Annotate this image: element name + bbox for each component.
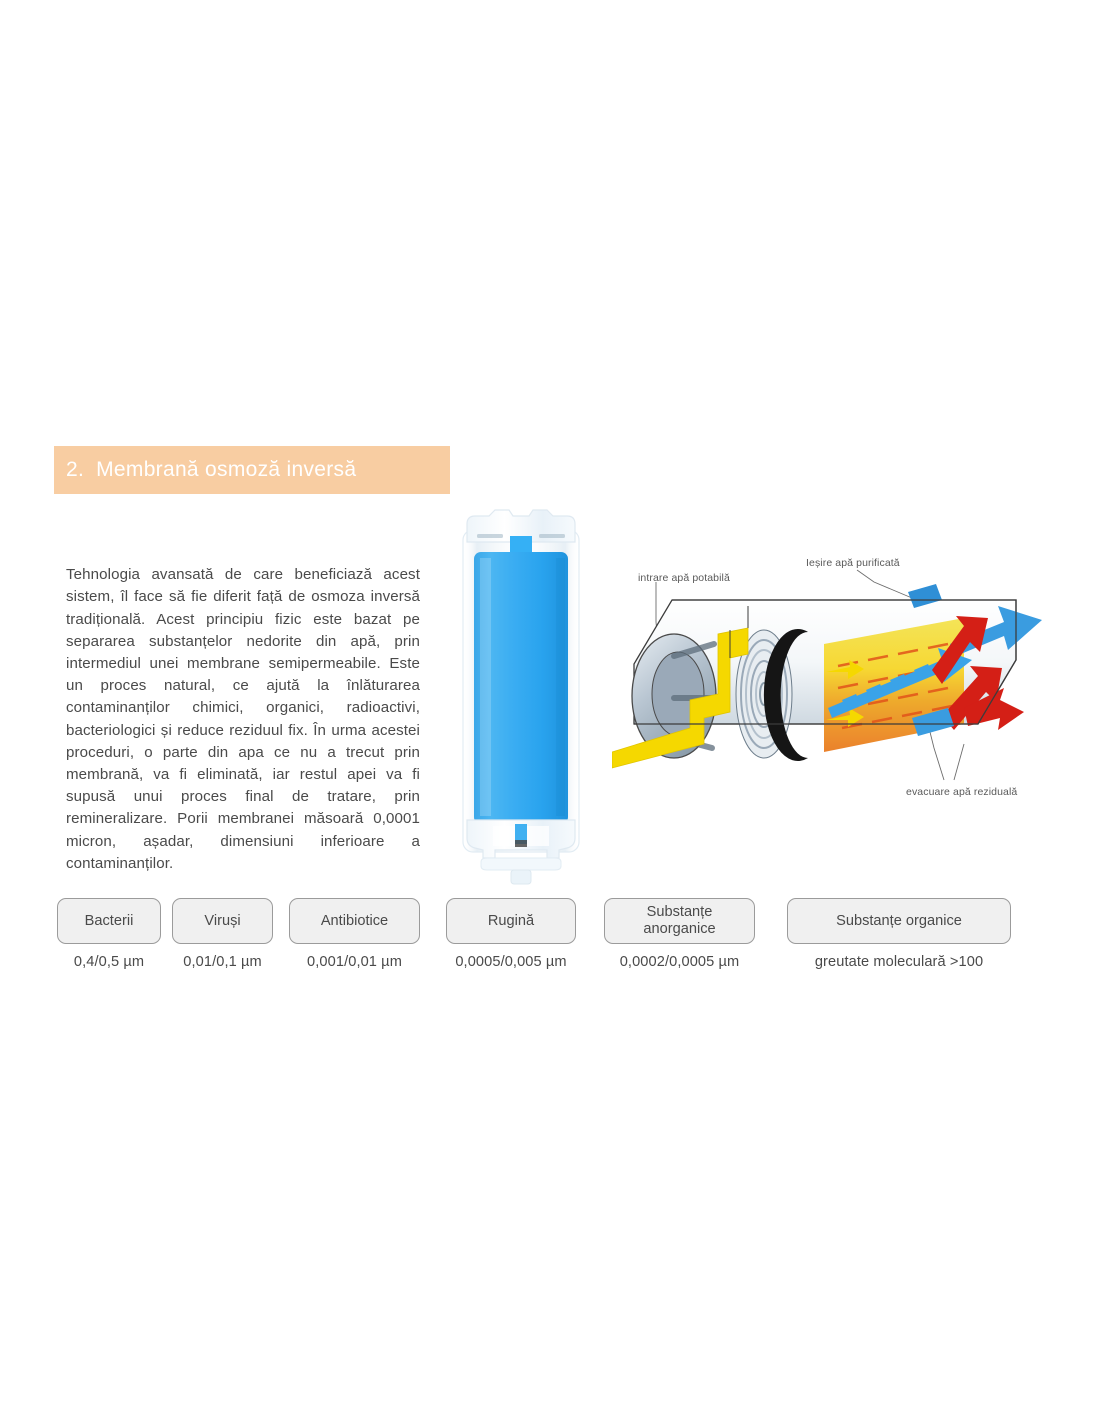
ro-membrane-diagram: intrare apă potabilă Ieșire apă purifica… — [612, 548, 1048, 816]
contaminant-cell: Antibiotice 0,001/0,01 µm — [289, 898, 420, 970]
contaminant-badge-bacterii[interactable]: Bacterii — [57, 898, 161, 944]
section-body-text: Tehnologia avansată de care beneficiază … — [66, 564, 420, 875]
leader-line-waste-b — [954, 744, 964, 780]
section-number: 2. — [66, 458, 84, 482]
contaminant-size-bacterii: 0,4/0,5 µm — [57, 954, 161, 970]
cap-slot-left — [477, 534, 503, 538]
contaminant-size-antibiotice: 0,001/0,01 µm — [289, 954, 420, 970]
contaminant-badge-row: Bacterii 0,4/0,5 µm Viruși 0,01/0,1 µm A… — [0, 898, 1100, 988]
contaminant-cell: Substanțe anorganice 0,0002/0,0005 µm — [604, 898, 755, 970]
contaminant-badge-rugina[interactable]: Rugină — [446, 898, 576, 944]
bottom-port-seal — [515, 840, 527, 847]
contaminant-cell: Substanțe organice greutate moleculară >… — [787, 898, 1011, 970]
contaminant-size-virusi: 0,01/0,1 µm — [172, 954, 273, 970]
membrane-cartridge-image — [443, 508, 599, 888]
bottom-flange — [481, 858, 561, 870]
contaminant-badge-virusi[interactable]: Viruși — [172, 898, 273, 944]
cartridge-shadow — [556, 558, 565, 816]
cartridge-highlight — [480, 558, 491, 816]
section-header-banner: 2. Membrană osmoză inversă — [54, 446, 450, 494]
cartridge-illustration — [443, 508, 599, 888]
contaminant-badge-antibiotice[interactable]: Antibiotice — [289, 898, 420, 944]
contaminant-size-substante-organice: greutate moleculară >100 — [787, 954, 1011, 970]
bottom-outlet-stem — [511, 870, 531, 884]
leader-line-permeate — [857, 570, 912, 598]
ro-diagram-illustration — [612, 548, 1048, 816]
section-title: Membrană osmoză inversă — [96, 458, 356, 482]
contaminant-size-rugina: 0,0005/0,005 µm — [446, 954, 576, 970]
cap-slot-right — [539, 534, 565, 538]
contaminant-badge-substante-organice[interactable]: Substanțe organice — [787, 898, 1011, 944]
contaminant-cell: Bacterii 0,4/0,5 µm — [57, 898, 161, 970]
contaminant-cell: Viruși 0,01/0,1 µm — [172, 898, 273, 970]
contaminant-size-substante-anorganice: 0,0002/0,0005 µm — [604, 954, 755, 970]
contaminant-badge-substante-anorganice[interactable]: Substanțe anorganice — [604, 898, 755, 944]
contaminant-cell: Rugină 0,0005/0,005 µm — [446, 898, 576, 970]
